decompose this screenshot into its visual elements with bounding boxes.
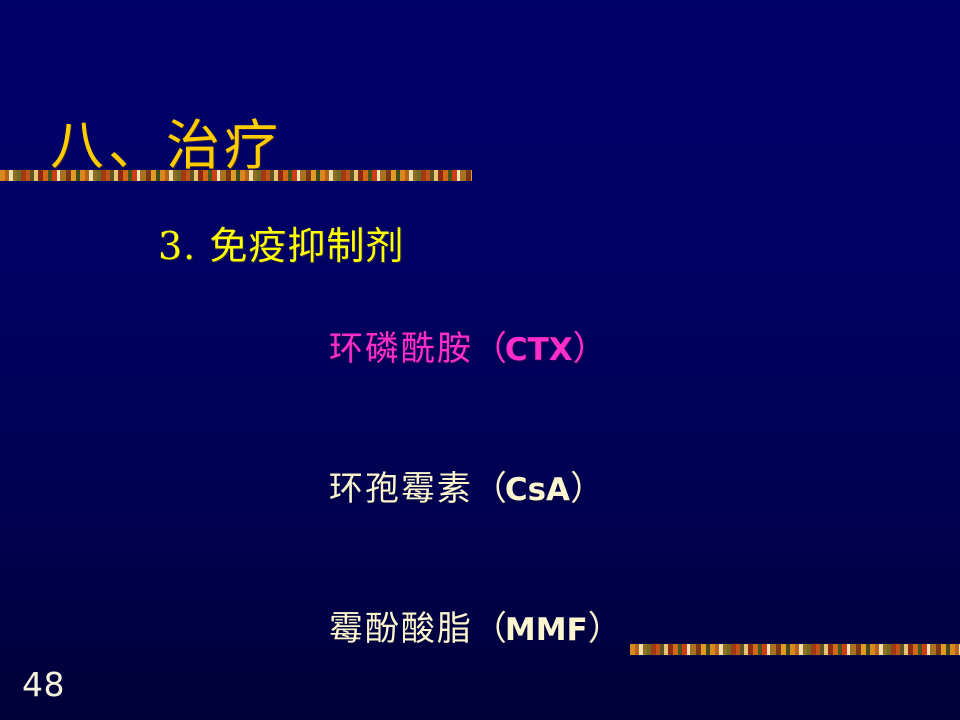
page-number: 48 xyxy=(22,665,65,704)
open-paren: （ xyxy=(473,329,505,369)
drug-abbreviation: CTX xyxy=(505,332,573,368)
drug-abbreviation: CsA xyxy=(505,472,570,508)
list-item: 霉酚酸脂（MMF） xyxy=(258,574,960,686)
list-item: 环磷酰胺（CTX） xyxy=(258,294,960,406)
slide-body: 3. 免疫抑制剂 环磷酰胺（CTX） 环孢霉素（CsA） 霉酚酸脂（MMF） xyxy=(0,225,960,686)
decorative-rule-top xyxy=(0,170,472,181)
open-paren: （ xyxy=(473,609,505,649)
list-item: 环孢霉素（CsA） xyxy=(258,434,960,546)
content-heading: 3. 免疫抑制剂 xyxy=(158,225,960,268)
drug-name-chinese: 环孢霉素 xyxy=(329,469,473,509)
drug-name-chinese: 环磷酰胺 xyxy=(329,329,473,369)
presentation-slide: 八、治疗 3. 免疫抑制剂 环磷酰胺（CTX） 环孢霉素（CsA） 霉酚酸脂（M… xyxy=(0,0,960,720)
open-paren: （ xyxy=(473,469,505,509)
slide-title: 八、治疗 xyxy=(50,118,282,175)
close-paren: ） xyxy=(588,609,620,649)
drug-abbreviation: MMF xyxy=(505,612,588,648)
decorative-rule-bottom xyxy=(630,644,960,655)
close-paren: ） xyxy=(570,469,602,509)
close-paren: ） xyxy=(573,329,605,369)
drug-name-chinese: 霉酚酸脂 xyxy=(329,609,473,649)
